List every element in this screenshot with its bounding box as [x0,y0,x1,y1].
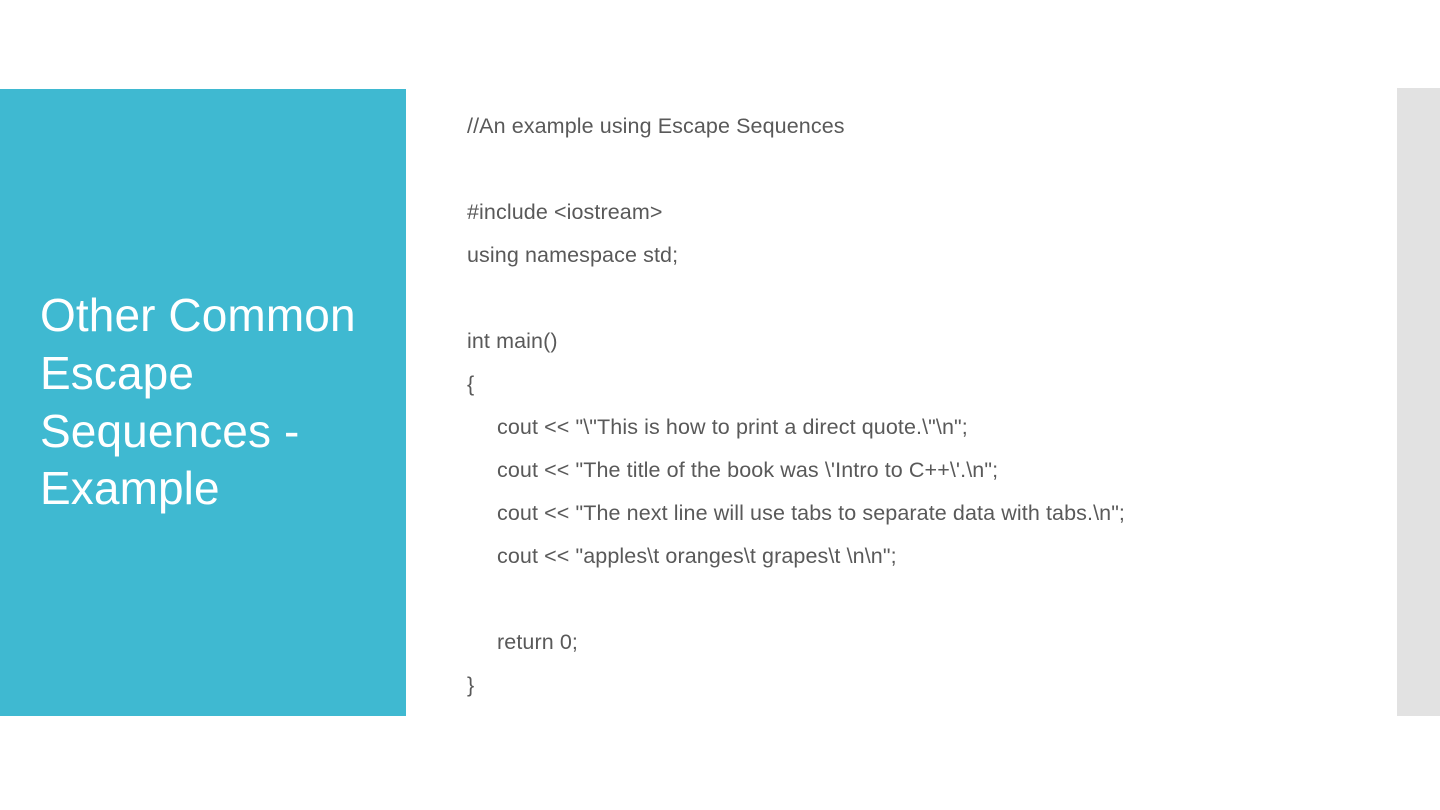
slide-canvas: Other Common Escape Sequences - Example … [0,0,1440,810]
title-panel: Other Common Escape Sequences - Example [0,89,406,716]
code-line-blank [467,578,1367,621]
code-block: //An example using Escape Sequences#incl… [467,105,1367,707]
code-line: cout << "The title of the book was \'Int… [467,449,1367,492]
code-line: cout << "apples\t oranges\t grapes\t \n\… [467,535,1367,578]
code-line: cout << "\"This is how to print a direct… [467,406,1367,449]
code-line: using namespace std; [467,234,1367,277]
code-line: { [467,363,1367,406]
code-line: //An example using Escape Sequences [467,105,1367,148]
code-line-blank [467,148,1367,191]
code-line: } [467,664,1367,707]
code-line: int main() [467,320,1367,363]
page-title: Other Common Escape Sequences - Example [40,287,382,519]
code-line: cout << "The next line will use tabs to … [467,492,1367,535]
code-line: return 0; [467,621,1367,664]
code-line-blank [467,277,1367,320]
code-line: #include <iostream> [467,191,1367,234]
right-decorative-bar [1397,88,1440,716]
